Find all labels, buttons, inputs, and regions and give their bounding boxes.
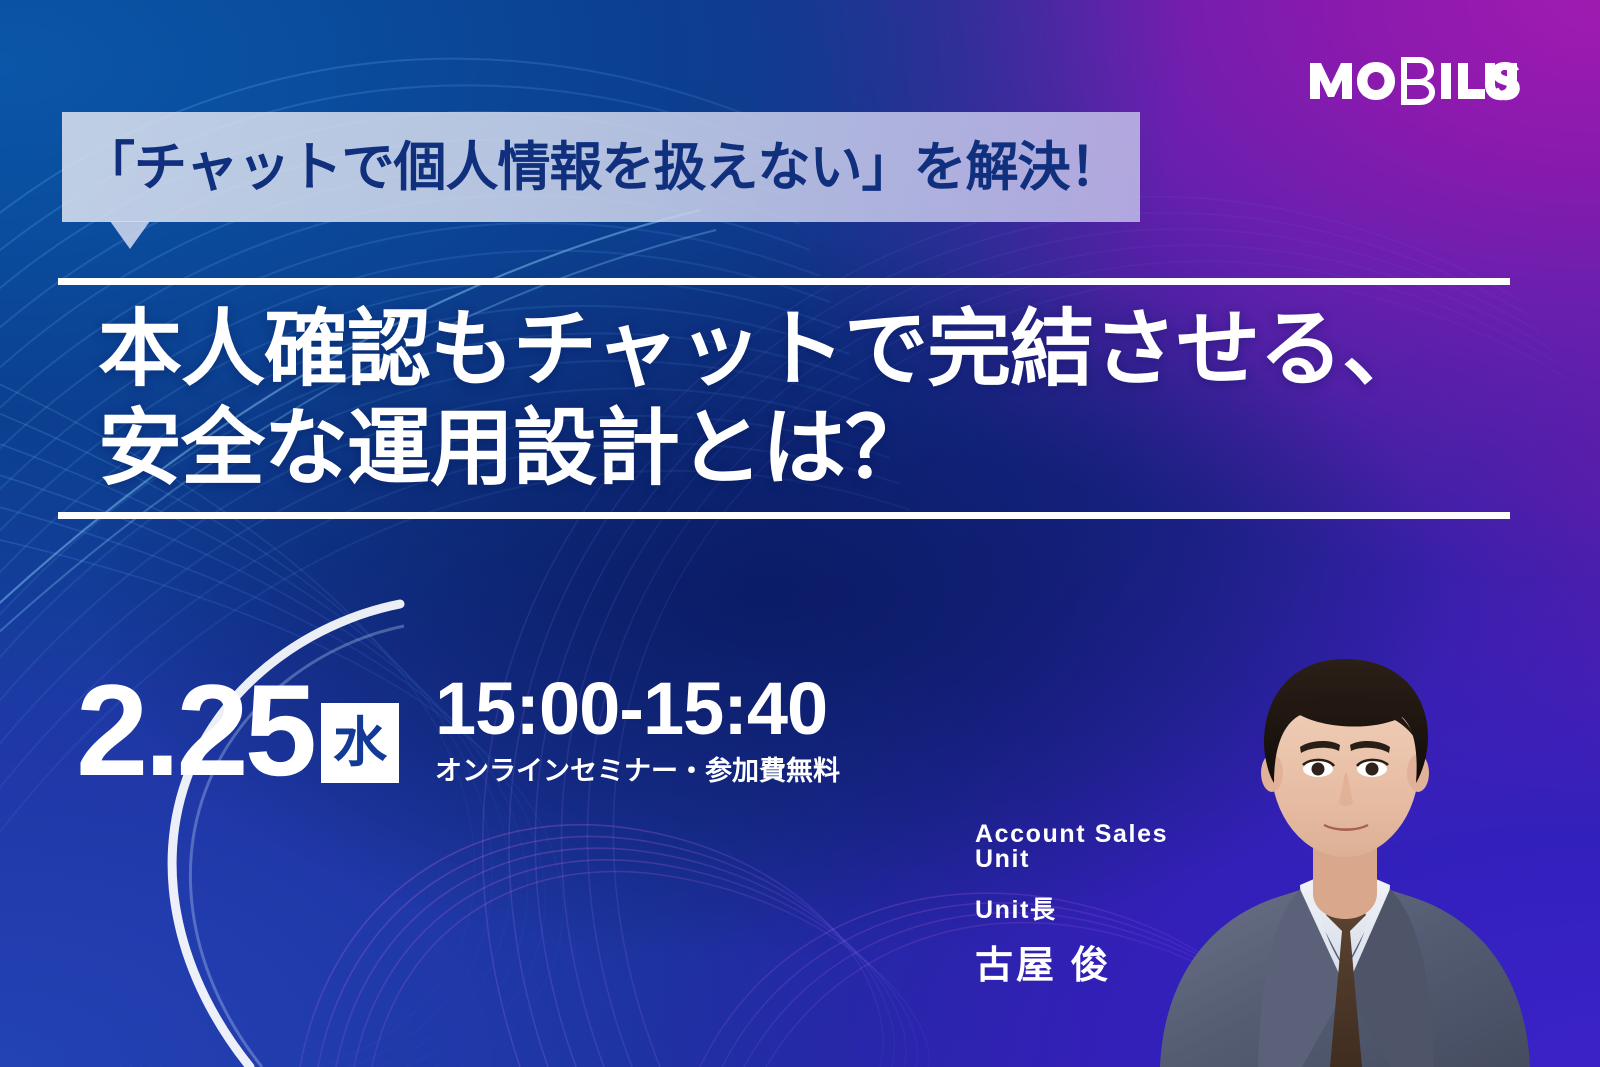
time-block: 15:00-15:40 オンラインセミナー・参加費無料 [435, 672, 840, 785]
page-title-line-1: 本人確認もチャットで完結させる、 [98, 300, 1498, 399]
speaker-org: Account Sales Unit [975, 822, 1225, 872]
event-note: オンラインセミナー・参加費無料 [435, 758, 840, 785]
schedule-block: 2.25 水 15:00-15:40 オンラインセミナー・参加費無料 [76, 672, 840, 787]
ribbon-banner-text: 「チャットで個人情報を扱えない」を解決！ [82, 141, 1121, 194]
speaker-info: Account Sales Unit Unit長 古屋 俊 [975, 822, 1225, 985]
seminar-banner-poster: 「チャットで個人情報を扱えない」を解決！ 本人確認もチャットで完結させる、 安全… [0, 0, 1600, 1067]
day-of-week-label: 水 [333, 716, 387, 770]
event-time: 15:00-15:40 [435, 672, 840, 746]
day-of-week-badge: 水 [321, 703, 399, 783]
page-title: 本人確認もチャットで完結させる、 安全な運用設計とは？ [98, 300, 1498, 498]
mobilus-logo [1308, 52, 1524, 110]
ribbon-banner-tail [110, 221, 150, 249]
event-date: 2.25 [76, 675, 313, 787]
divider-rule-bottom [58, 512, 1510, 519]
page-title-line-2: 安全な運用設計とは？ [98, 399, 1498, 498]
divider-rule-top [58, 278, 1510, 285]
speaker-role: Unit長 [975, 898, 1225, 923]
speaker-name: 古屋 俊 [975, 947, 1225, 985]
ribbon-banner: 「チャットで個人情報を扱えない」を解決！ [62, 112, 1140, 222]
